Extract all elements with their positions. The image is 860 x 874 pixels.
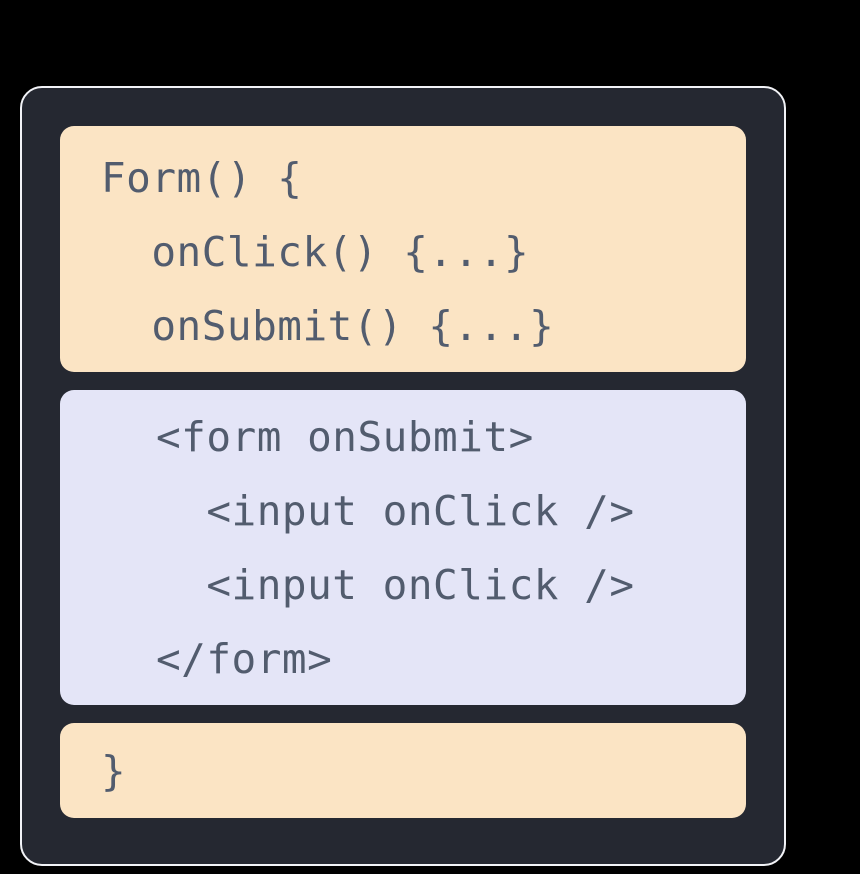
- code-line: <form onSubmit>: [60, 400, 746, 474]
- code-line: Form() {: [60, 141, 746, 215]
- code-line: }: [60, 734, 746, 808]
- code-line: <input onClick />: [60, 474, 746, 548]
- code-segment-returned-markup: <form onSubmit> <input onClick /> <input…: [60, 390, 746, 705]
- code-line: <input onClick />: [60, 548, 746, 622]
- code-card: Form() { onClick() {...} onSubmit() {...…: [20, 86, 786, 866]
- code-segment-component-footer: }: [60, 723, 746, 818]
- code-segment-component-header: Form() { onClick() {...} onSubmit() {...…: [60, 126, 746, 372]
- code-line: onClick() {...}: [60, 215, 746, 289]
- code-line: onSubmit() {...}: [60, 289, 746, 363]
- code-segment-list: Form() { onClick() {...} onSubmit() {...…: [22, 126, 784, 818]
- code-line: </form>: [60, 622, 746, 696]
- canvas: Form() { onClick() {...} onSubmit() {...…: [0, 0, 860, 874]
